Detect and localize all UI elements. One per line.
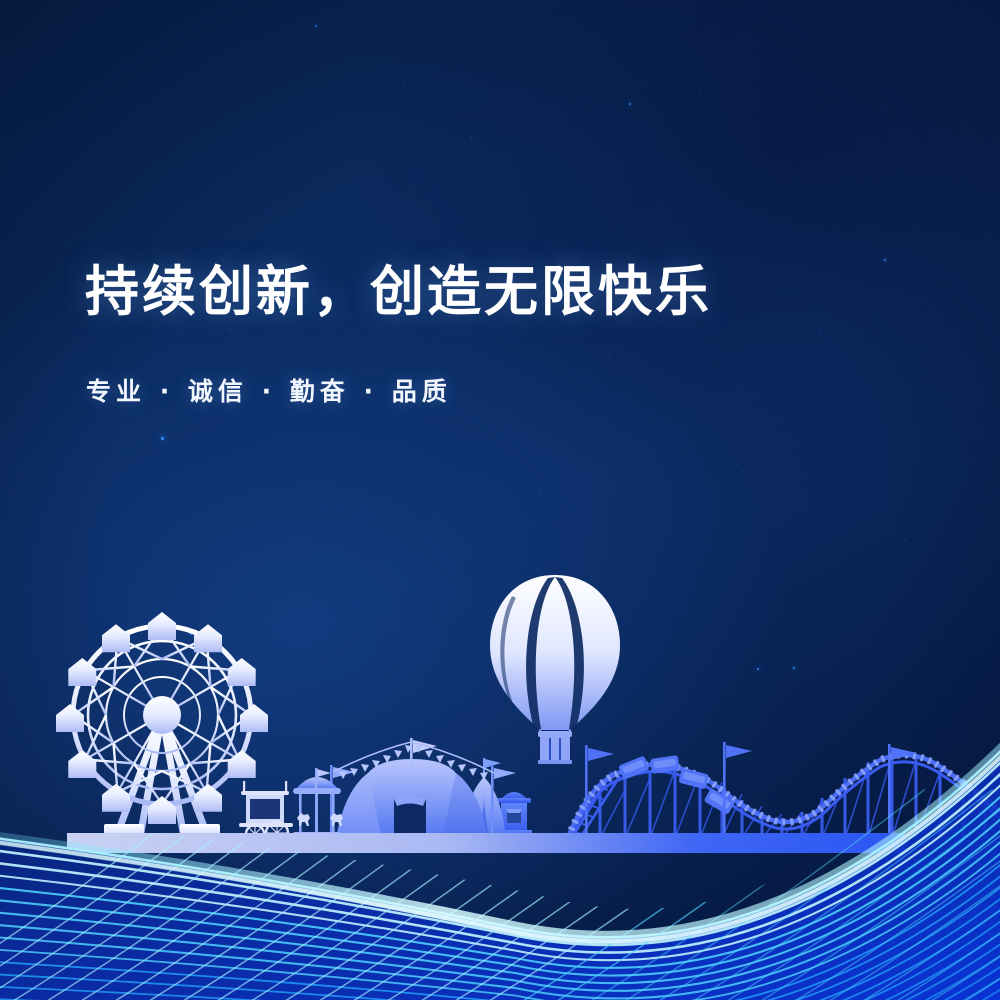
poster-canvas: 持续创新，创造无限快乐 专业 · 诚信 · 勤奋 · 品质 xyxy=(0,0,1000,1000)
page-title: 持续创新，创造无限快乐 xyxy=(85,262,712,321)
page-subtitle: 专业 · 诚信 · 勤奋 · 品质 xyxy=(86,372,452,408)
neon-wave-mesh xyxy=(0,0,1000,1000)
